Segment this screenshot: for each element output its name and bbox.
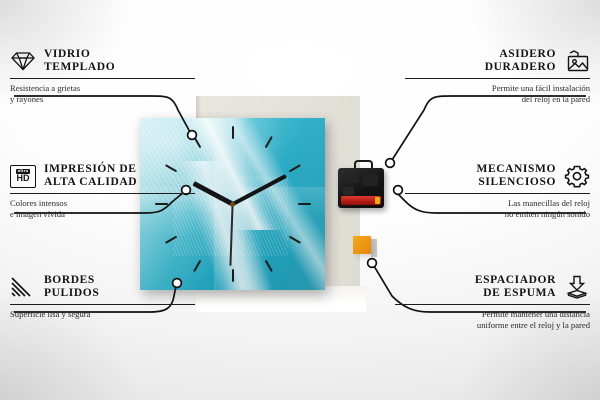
- feature-divider: [10, 193, 195, 194]
- feature-divider: [10, 304, 195, 305]
- feature-header: BORDES PULIDOS: [10, 274, 195, 300]
- feature-impresion-alta-calidad[interactable]: ultraHD IMPRESIÓN DE ALTA CALIDAD Colore…: [10, 163, 195, 219]
- feature-header: MECANISMO SILENCIOSO: [405, 163, 590, 189]
- feature-header: ASIDERO DURADERO: [405, 48, 590, 74]
- feature-divider: [405, 78, 590, 79]
- foam-spacer-shadow: [371, 239, 377, 257]
- battery-terminal: [375, 197, 380, 204]
- feature-vidrio-templado[interactable]: VIDRIO TEMPLADO Resistencia a grietas y …: [10, 48, 195, 104]
- feature-title: VIDRIO TEMPLADO: [44, 48, 115, 74]
- feature-mecanismo-silencioso[interactable]: MECANISMO SILENCIOSO Las manecillas del …: [405, 163, 590, 219]
- feature-asidero-duradero[interactable]: ASIDERO DURADERO Permite una fácil insta…: [405, 48, 590, 104]
- foam-spacer-icon: [564, 275, 590, 299]
- feature-description: Permite mantener una distancia uniforme …: [395, 309, 590, 330]
- feature-divider: [405, 193, 590, 194]
- feature-header: ESPACIADOR DE ESPUMA: [395, 274, 590, 300]
- ultra-hd-icon: ultraHD: [10, 164, 36, 188]
- gear-icon: [564, 164, 590, 188]
- feature-title: ESPACIADOR DE ESPUMA: [475, 274, 556, 300]
- feature-header: ultraHD IMPRESIÓN DE ALTA CALIDAD: [10, 163, 195, 189]
- feature-description: Permite una fácil instalación del reloj …: [405, 83, 590, 104]
- battery: [341, 196, 381, 205]
- mechanism-body: [338, 168, 384, 208]
- feature-divider: [395, 304, 590, 305]
- clock-center-cap: [230, 202, 235, 207]
- feature-description: Superficie lisa y segura: [10, 309, 195, 320]
- callout-marker: [394, 186, 403, 195]
- mechanism-slot: [343, 187, 354, 195]
- feature-description: Las manecillas del reloj no emiten ningú…: [405, 198, 590, 219]
- feature-title: BORDES PULIDOS: [44, 274, 99, 300]
- feature-header: VIDRIO TEMPLADO: [10, 48, 195, 74]
- picture-hanger-icon: [564, 49, 590, 73]
- feature-title: IMPRESIÓN DE ALTA CALIDAD: [44, 163, 137, 189]
- feature-title: MECANISMO SILENCIOSO: [476, 163, 556, 189]
- clock-tick: [233, 203, 311, 205]
- feature-divider: [10, 78, 195, 79]
- infographic-canvas: VIDRIO TEMPLADO Resistencia a grietas y …: [0, 0, 600, 400]
- callout-marker: [386, 159, 395, 168]
- clock-tick: [232, 126, 234, 204]
- feature-description: Resistencia a grietas y rayones: [10, 83, 195, 104]
- feature-bordes-pulidos[interactable]: BORDES PULIDOS Superficie lisa y segura: [10, 274, 195, 320]
- foam-spacer-pad: [353, 236, 371, 254]
- feature-title: ASIDERO DURADERO: [485, 48, 556, 74]
- feature-description: Colores intensos e imagen vívida: [10, 198, 195, 219]
- diamond-icon: [10, 49, 36, 73]
- feature-espaciador-espuma[interactable]: ESPACIADOR DE ESPUMA Permite mantener un…: [395, 274, 590, 330]
- callout-marker: [368, 259, 377, 268]
- polished-edges-icon: [10, 275, 36, 299]
- clock-mechanism: [338, 166, 384, 208]
